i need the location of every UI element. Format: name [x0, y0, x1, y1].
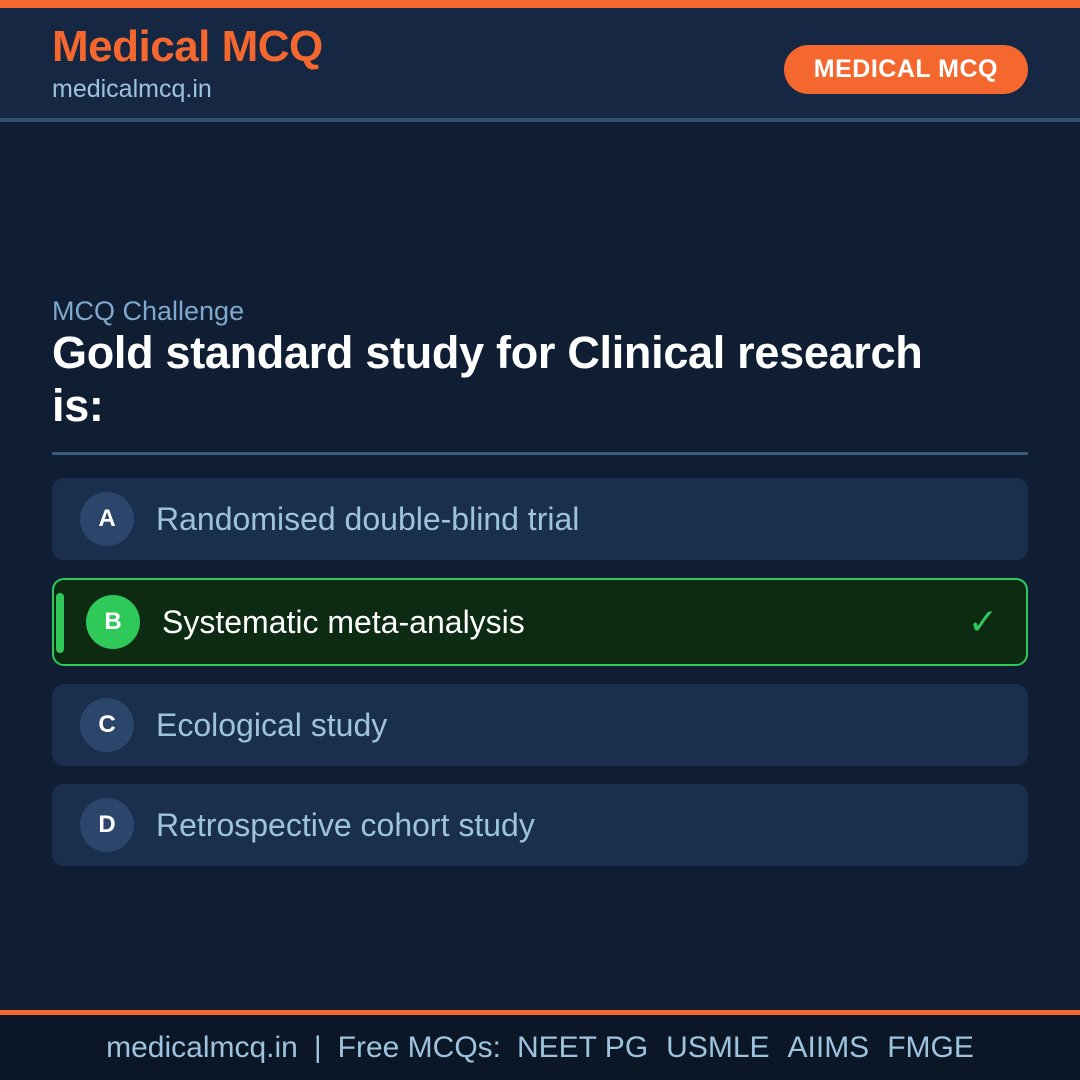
selected-accent-bar: [56, 593, 64, 653]
question-divider: [52, 452, 1028, 455]
option-text-d: Retrospective cohort study: [156, 807, 1000, 844]
footer-site-link[interactable]: medicalmcq.in: [106, 1031, 298, 1065]
option-badge-c: C: [80, 698, 134, 752]
option-row-d[interactable]: D Retrospective cohort study: [52, 784, 1028, 866]
page-footer: medicalmcq.in | Free MCQs: NEET PG USMLE…: [0, 1015, 1080, 1080]
top-accent-bar: [0, 0, 1080, 8]
page-header: Medical MCQ medicalmcq.in MEDICAL MCQ: [0, 8, 1080, 120]
option-text-b: Systematic meta-analysis: [162, 604, 968, 641]
option-badge-b: B: [86, 595, 140, 649]
option-row-b[interactable]: B Systematic meta-analysis ✓: [52, 578, 1028, 666]
header-badge: MEDICAL MCQ: [784, 45, 1028, 94]
footer-exam-neetpg[interactable]: NEET PG: [517, 1031, 648, 1065]
brand-subtitle: medicalmcq.in: [52, 74, 323, 104]
footer-free-label: Free MCQs:: [338, 1031, 501, 1065]
footer-exam-fmge[interactable]: FMGE: [887, 1031, 974, 1065]
check-icon: ✓: [968, 604, 998, 640]
option-text-a: Randomised double-blind trial: [156, 501, 1000, 538]
footer-exam-aiims[interactable]: AIIMS: [788, 1031, 870, 1065]
option-text-c: Ecological study: [156, 707, 1000, 744]
question-text: Gold standard study for Clinical researc…: [52, 326, 982, 432]
brand-block: Medical MCQ medicalmcq.in: [52, 24, 323, 104]
main-content: MCQ Challenge Gold standard study for Cl…: [0, 122, 1080, 1010]
footer-content: medicalmcq.in | Free MCQs: NEET PG USMLE…: [106, 1031, 974, 1065]
option-badge-d: D: [80, 798, 134, 852]
option-badge-a: A: [80, 492, 134, 546]
footer-exam-list: NEET PG USMLE AIIMS FMGE: [517, 1031, 974, 1065]
question-label: MCQ Challenge: [52, 296, 244, 327]
option-row-a[interactable]: A Randomised double-blind trial: [52, 478, 1028, 560]
options-list: A Randomised double-blind trial B System…: [52, 478, 1028, 884]
footer-exam-usmle[interactable]: USMLE: [666, 1031, 769, 1065]
brand-title: Medical MCQ: [52, 24, 323, 70]
footer-separator: |: [314, 1031, 322, 1065]
option-row-c[interactable]: C Ecological study: [52, 684, 1028, 766]
